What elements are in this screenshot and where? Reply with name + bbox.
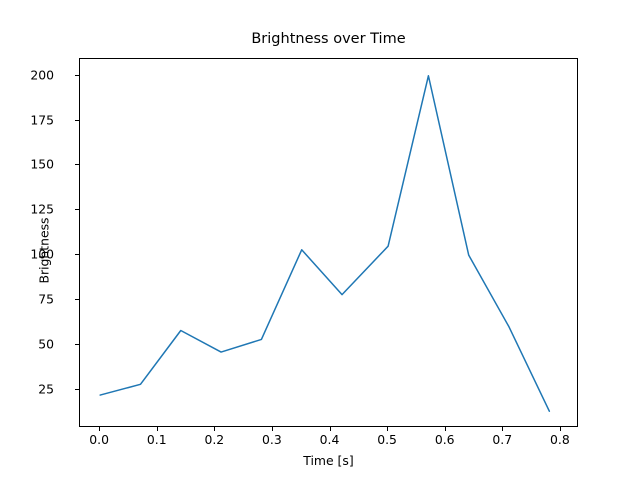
x-tick-label: 0.1 — [147, 432, 167, 447]
x-tick-label: 0.6 — [435, 432, 455, 447]
y-tick-label: 150 — [30, 157, 54, 172]
y-tick-label: 125 — [30, 202, 54, 217]
plot-area — [79, 58, 578, 427]
y-tick-label: 25 — [38, 381, 54, 396]
x-tick-label: 0.4 — [320, 432, 340, 447]
x-tick-label: 0.7 — [492, 432, 512, 447]
x-tick-label: 0.5 — [377, 432, 397, 447]
x-tick-label: 0.3 — [262, 432, 282, 447]
y-tick-label: 75 — [38, 292, 54, 307]
y-tick-label: 200 — [30, 67, 54, 82]
line-series-brightness — [100, 76, 549, 411]
line-series-svg — [80, 59, 579, 428]
y-tick-label: 175 — [30, 112, 54, 127]
x-tick-label: 0.0 — [89, 432, 109, 447]
y-tick-label: 50 — [38, 336, 54, 351]
y-tick-label: 100 — [30, 247, 54, 262]
figure-canvas: Brightness over Time Brightness Time [s]… — [0, 0, 640, 480]
x-tick-label: 0.2 — [204, 432, 224, 447]
x-tick-label: 0.8 — [550, 432, 570, 447]
x-axis-label: Time [s] — [79, 453, 578, 468]
chart-title: Brightness over Time — [79, 30, 578, 48]
